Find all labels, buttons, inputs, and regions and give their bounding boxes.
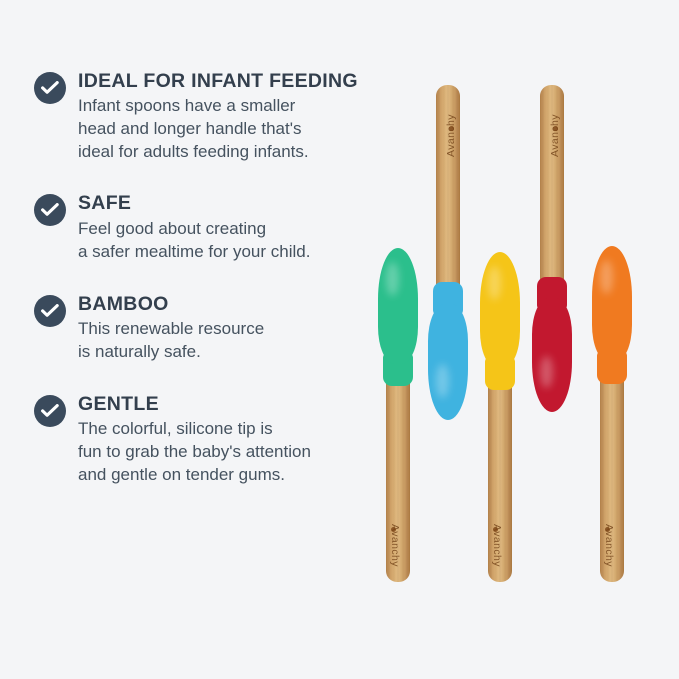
feature-title: GENTLE bbox=[78, 393, 374, 415]
feature-item-gentle: GENTLE The colorful, silicone tip is fun… bbox=[34, 393, 374, 487]
blue-spoon-tip bbox=[428, 304, 468, 420]
feature-description: The colorful, silicone tip is fun to gra… bbox=[78, 418, 374, 487]
feature-description-line: and gentle on tender gums. bbox=[78, 464, 374, 487]
feature-description-line: head and longer handle that's bbox=[78, 118, 374, 141]
feature-description-line: The colorful, silicone tip is bbox=[78, 418, 374, 441]
highlight bbox=[488, 266, 501, 300]
feature-description: Feel good about creating a safer mealtim… bbox=[78, 218, 374, 264]
feature-item-bamboo: BAMBOO This renewable resource is natura… bbox=[34, 293, 374, 364]
check-circle-icon bbox=[34, 72, 66, 104]
red-spoon-brand-mark bbox=[553, 126, 558, 131]
feature-description: Infant spoons have a smaller head and lo… bbox=[78, 95, 374, 164]
feature-description-line: This renewable resource bbox=[78, 318, 374, 341]
product-image-spoon-set: Avanchy Avanchy Avanchy Avanchy bbox=[360, 0, 679, 679]
feature-item-ideal-for-infant-feeding: IDEAL FOR INFANT FEEDING Infant spoons h… bbox=[34, 70, 374, 164]
highlight bbox=[436, 364, 449, 398]
highlight bbox=[540, 356, 553, 388]
blue-spoon-brand-mark bbox=[449, 126, 454, 131]
green-spoon-brand-mark bbox=[391, 527, 396, 532]
feature-title: SAFE bbox=[78, 192, 374, 214]
feature-title: BAMBOO bbox=[78, 293, 374, 315]
check-circle-icon bbox=[34, 395, 66, 427]
red-spoon-tip bbox=[532, 298, 572, 412]
feature-description-line: Feel good about creating bbox=[78, 218, 374, 241]
feature-description-line: a safer mealtime for your child. bbox=[78, 241, 374, 264]
feature-description-line: is naturally safe. bbox=[78, 341, 374, 364]
red-spoon-brand-text: Avanchy bbox=[549, 114, 561, 157]
yellow-spoon-brand-mark bbox=[493, 527, 498, 532]
orange-spoon-tip bbox=[592, 246, 632, 362]
check-circle-icon bbox=[34, 194, 66, 226]
orange-spoon-brand-mark bbox=[605, 527, 610, 532]
feature-description-line: ideal for adults feeding infants. bbox=[78, 141, 374, 164]
highlight bbox=[386, 262, 399, 296]
yellow-spoon-tip bbox=[480, 252, 520, 368]
green-spoon-tip bbox=[378, 248, 418, 364]
blue-spoon-brand-text: Avanchy bbox=[445, 114, 457, 157]
feature-title: IDEAL FOR INFANT FEEDING bbox=[78, 70, 374, 92]
feature-list: IDEAL FOR INFANT FEEDING Infant spoons h… bbox=[34, 70, 374, 511]
feature-description: This renewable resource is naturally saf… bbox=[78, 318, 374, 364]
highlight bbox=[600, 260, 613, 294]
check-circle-icon bbox=[34, 295, 66, 327]
feature-description-line: Infant spoons have a smaller bbox=[78, 95, 374, 118]
feature-item-safe: SAFE Feel good about creating a safer me… bbox=[34, 192, 374, 263]
feature-description-line: fun to grab the baby's attention bbox=[78, 441, 374, 464]
